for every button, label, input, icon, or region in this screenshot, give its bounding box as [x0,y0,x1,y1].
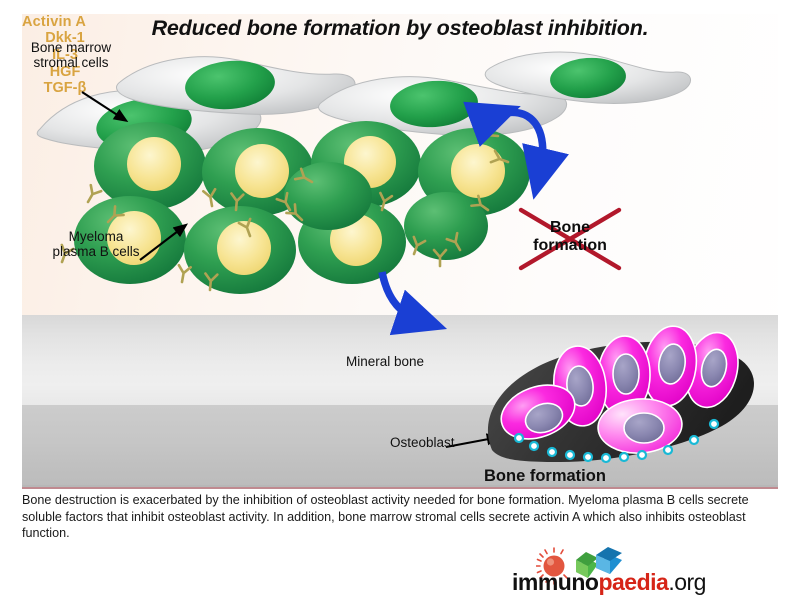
figure-caption: Bone destruction is exacerbated by the i… [22,492,782,542]
osteoblast-cell-group [494,323,746,456]
label-stromal-cells: Bone marrow stromal cells [28,40,114,71]
bone-formation-blocked: Bone formation [511,202,629,276]
label-bone-formation-active: Bone formation [484,467,606,486]
soluble-factors-arrow [382,272,420,320]
label-mineral-bone: Mineral bone [340,354,430,369]
figure-page: Reduced bone formation by osteoblast inh… [0,0,800,600]
myeloma-cell-group [74,121,530,294]
logo-word-immuno: immuno [512,569,598,595]
immunopaedia-logo-wordmark: immunopaedia.org [469,569,749,596]
logo-word-paedia: paedia [598,569,668,595]
bone-formation-blocked-label: Bone formation [511,219,629,255]
logo-sphere-highlight [547,558,554,565]
logo-word-org: .org [668,569,706,595]
diagram-panel: Reduced bone formation by osteoblast inh… [22,14,778,487]
caption-divider [22,487,778,489]
label-myeloma-cells: Myeloma plasma B cells [50,229,142,260]
label-osteoblast: Osteoblast [390,435,455,450]
